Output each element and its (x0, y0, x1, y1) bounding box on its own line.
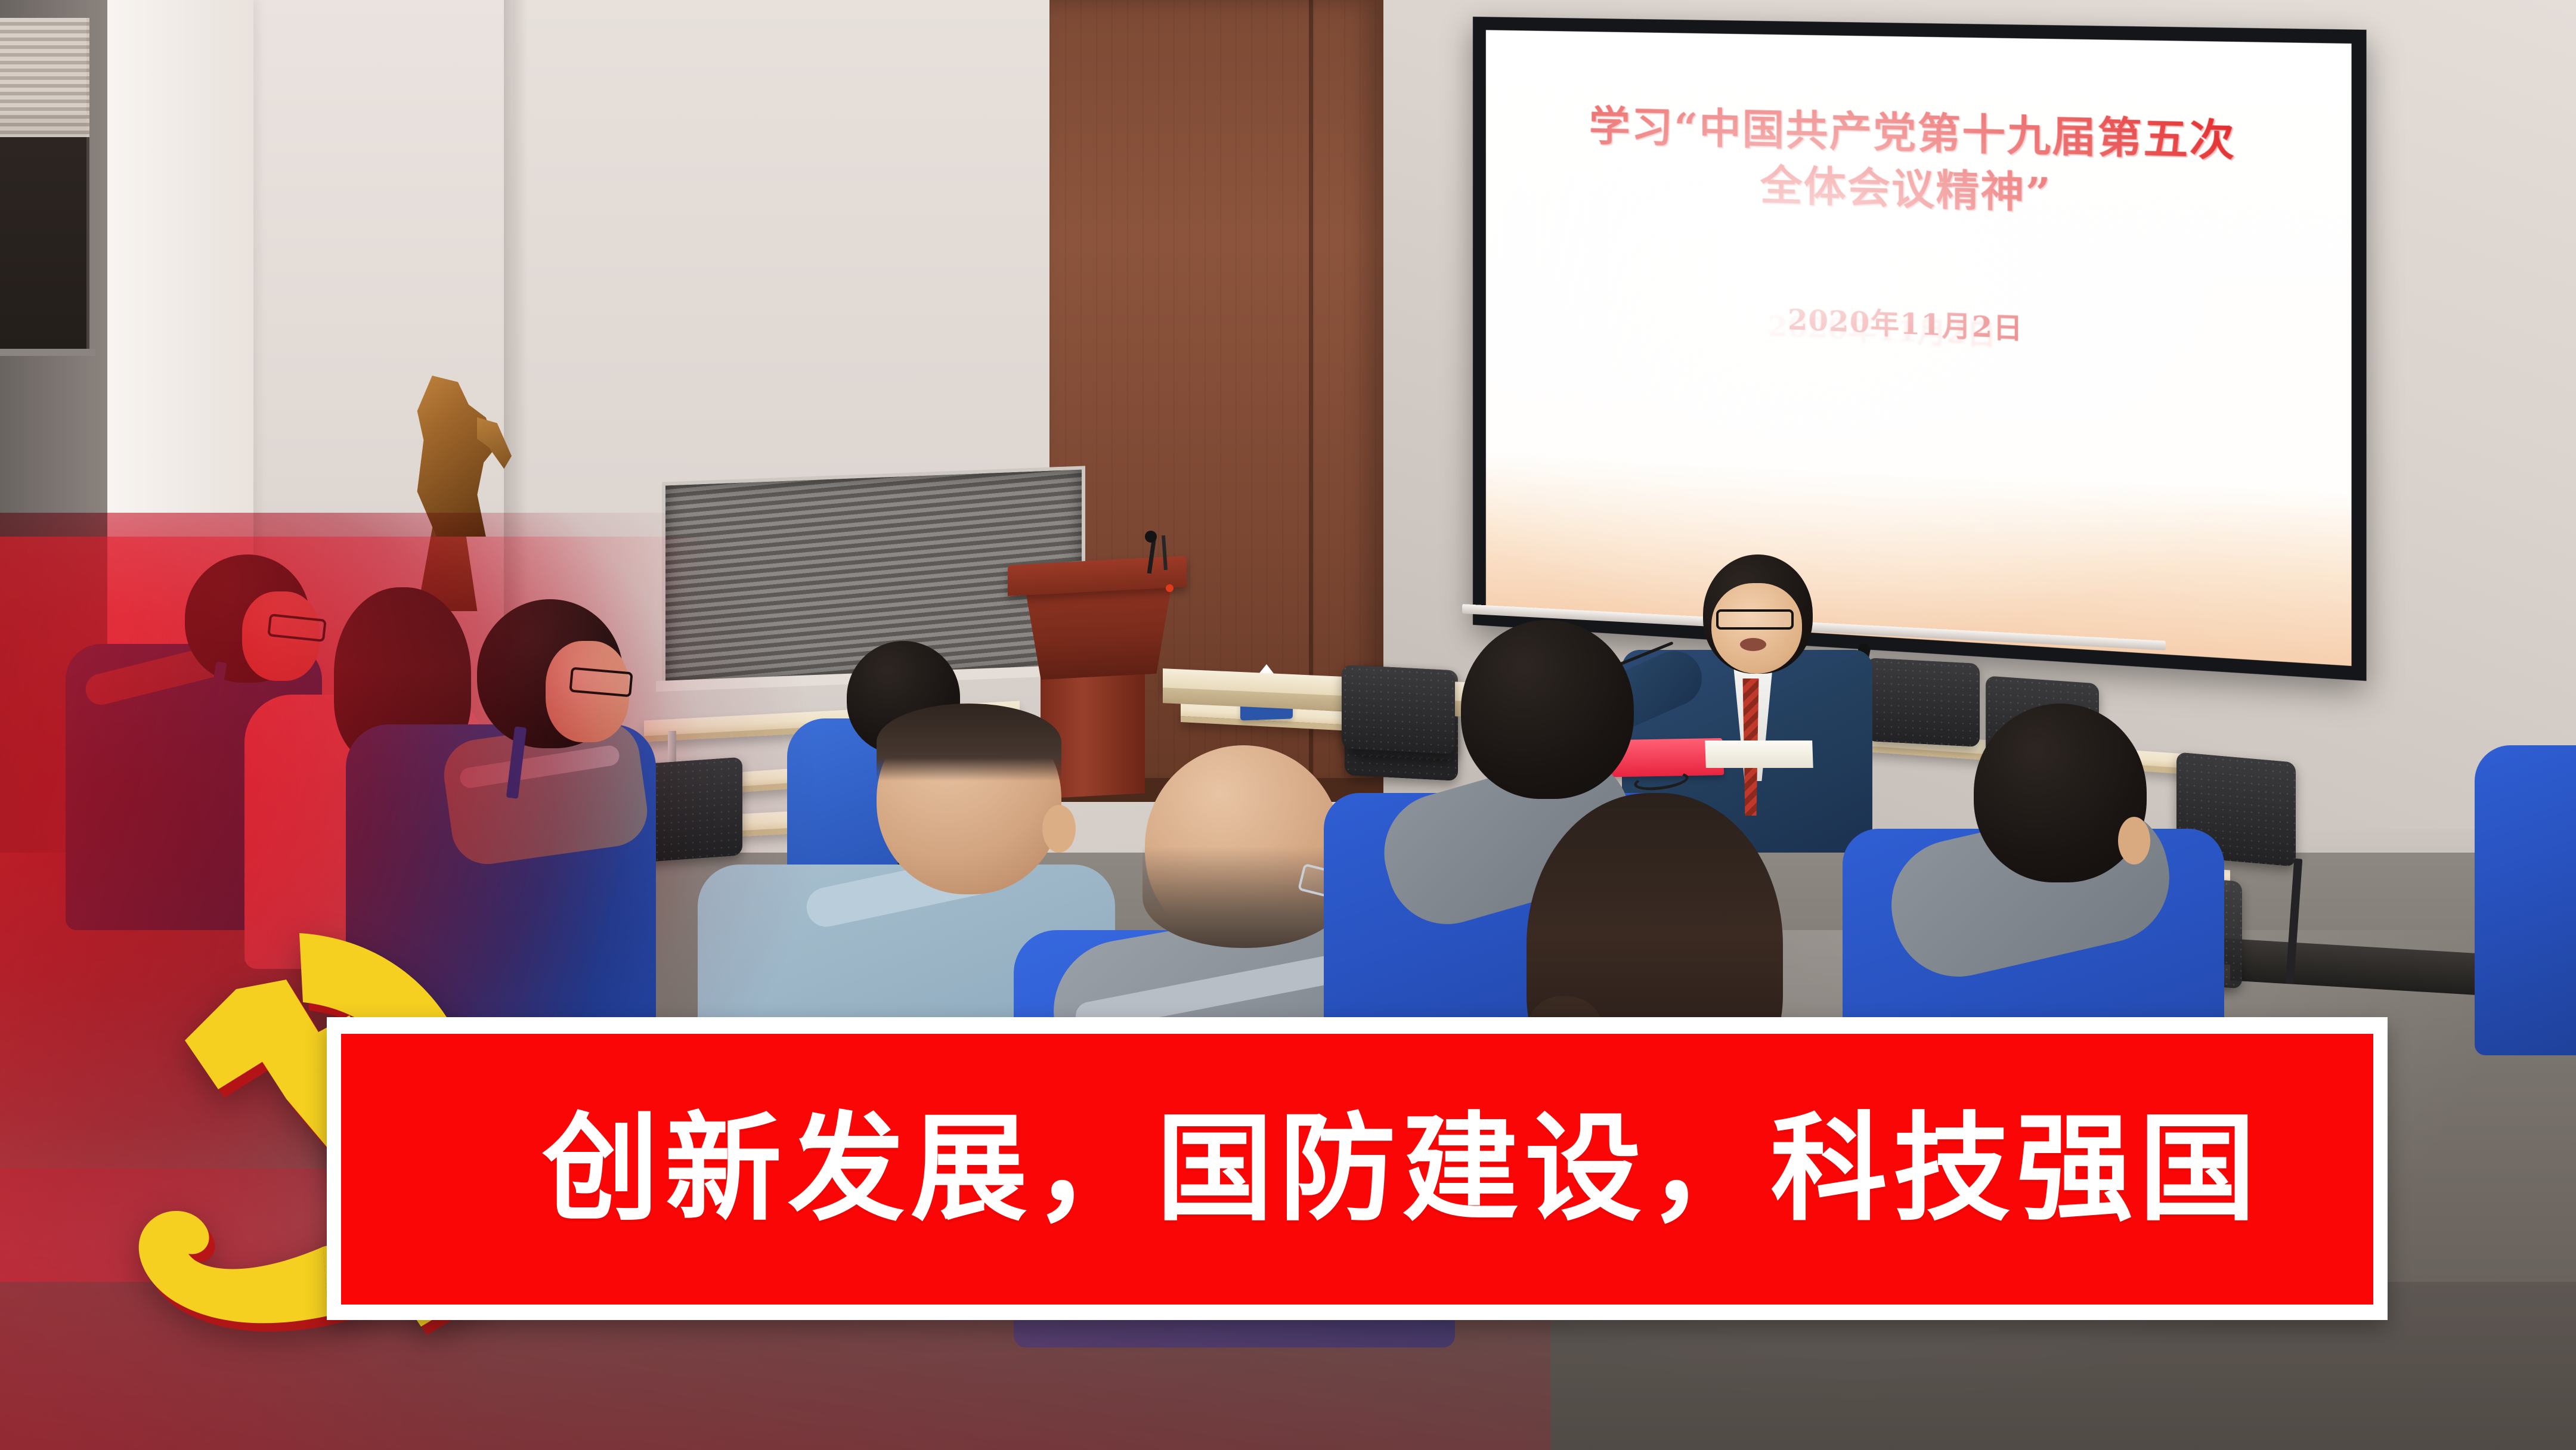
window-sill-left (0, 349, 95, 356)
presenter-mouth (1740, 638, 1766, 651)
photo-stage: 学习“中国共产党第十九届第五次 全体会议精神” 2020年11月2日 2020年… (0, 0, 2576, 1450)
caption-banner-text: 创新发展，国防建设，科技强国 (453, 1111, 2262, 1228)
venetian-blinds-left (0, 18, 89, 137)
presenter-glasses (1716, 609, 1794, 630)
attendee-9-ear (2118, 817, 2150, 865)
lectern-indicator-light (1166, 584, 1174, 592)
projection-screen: 学习“中国共产党第十九届第五次 全体会议精神” 2020年11月2日 2020年… (1473, 17, 2367, 681)
notepad-on-head-table (1705, 741, 1813, 768)
projection-screen-frame: 学习“中国共产党第十九届第五次 全体会议精神” 2020年11月2日 2020年… (1473, 17, 2367, 681)
attendee-right-edge-body (2475, 745, 2576, 1055)
attendee-7-head (1461, 620, 1634, 799)
sickle-handle-icon (139, 1211, 328, 1323)
attendee-6-hair-ring (1143, 847, 1345, 948)
wood-panel-seam (1309, 0, 1313, 793)
chair-head-table-2 (1866, 658, 1980, 747)
projection-screen-surface: 学习“中国共产党第十九届第五次 全体会议精神” 2020年11月2日 2020年… (1486, 30, 2352, 666)
attendee-5-ear (1042, 805, 1076, 853)
attendee-9-head (1974, 704, 2147, 882)
slide-title: 学习“中国共产党第十九届第五次 全体会议精神” (1486, 97, 2352, 231)
chair-head-table-1 (1342, 665, 1455, 754)
caption-banner-inner: 创新发展，国防建设，科技强国 (341, 1034, 2373, 1305)
lectern-microphone-head (1145, 531, 1157, 543)
caption-banner: 创新发展，国防建设，科技强国 (327, 1017, 2388, 1320)
